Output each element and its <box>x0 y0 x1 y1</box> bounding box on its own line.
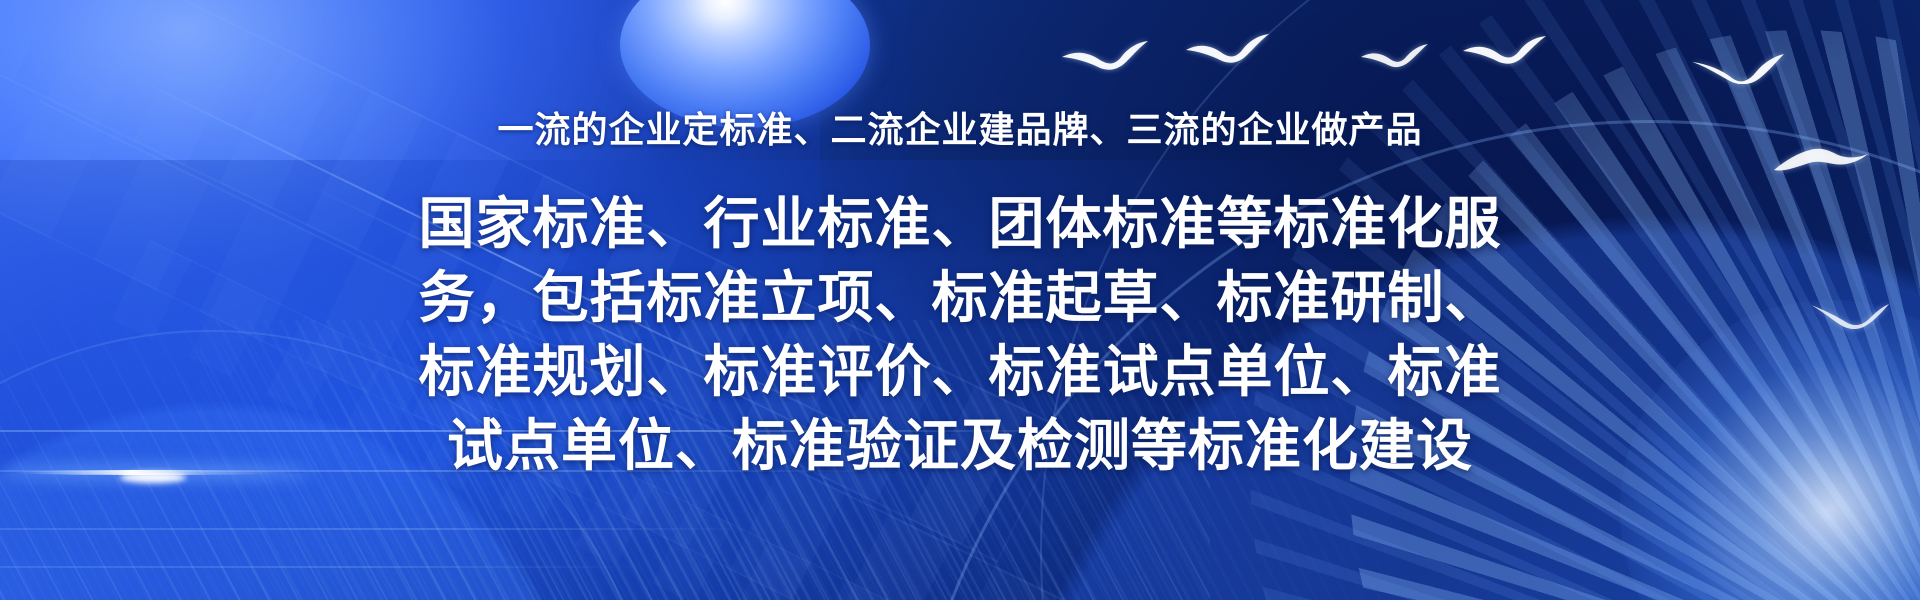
banner-body: 国家标准、行业标准、团体标准等标准化服 务，包括标准立项、标准起草、标准研制、 … <box>325 187 1595 483</box>
banner-body-line: 国家标准、行业标准、团体标准等标准化服 <box>325 187 1595 261</box>
banner-body-line: 标准规划、标准评价、标准试点单位、标准 <box>325 335 1595 409</box>
promo-banner: 一流的企业定标准、二流企业建品牌、三流的企业做产品 国家标准、行业标准、团体标准… <box>0 0 1920 600</box>
banner-body-line: 务，包括标准立项、标准起草、标准研制、 <box>325 261 1595 335</box>
banner-text-layer: 一流的企业定标准、二流企业建品牌、三流的企业做产品 国家标准、行业标准、团体标准… <box>0 0 1920 600</box>
banner-body-line: 试点单位、标准验证及检测等标准化建设 <box>325 409 1595 483</box>
banner-headline: 一流的企业定标准、二流企业建品牌、三流的企业做产品 <box>497 108 1422 151</box>
